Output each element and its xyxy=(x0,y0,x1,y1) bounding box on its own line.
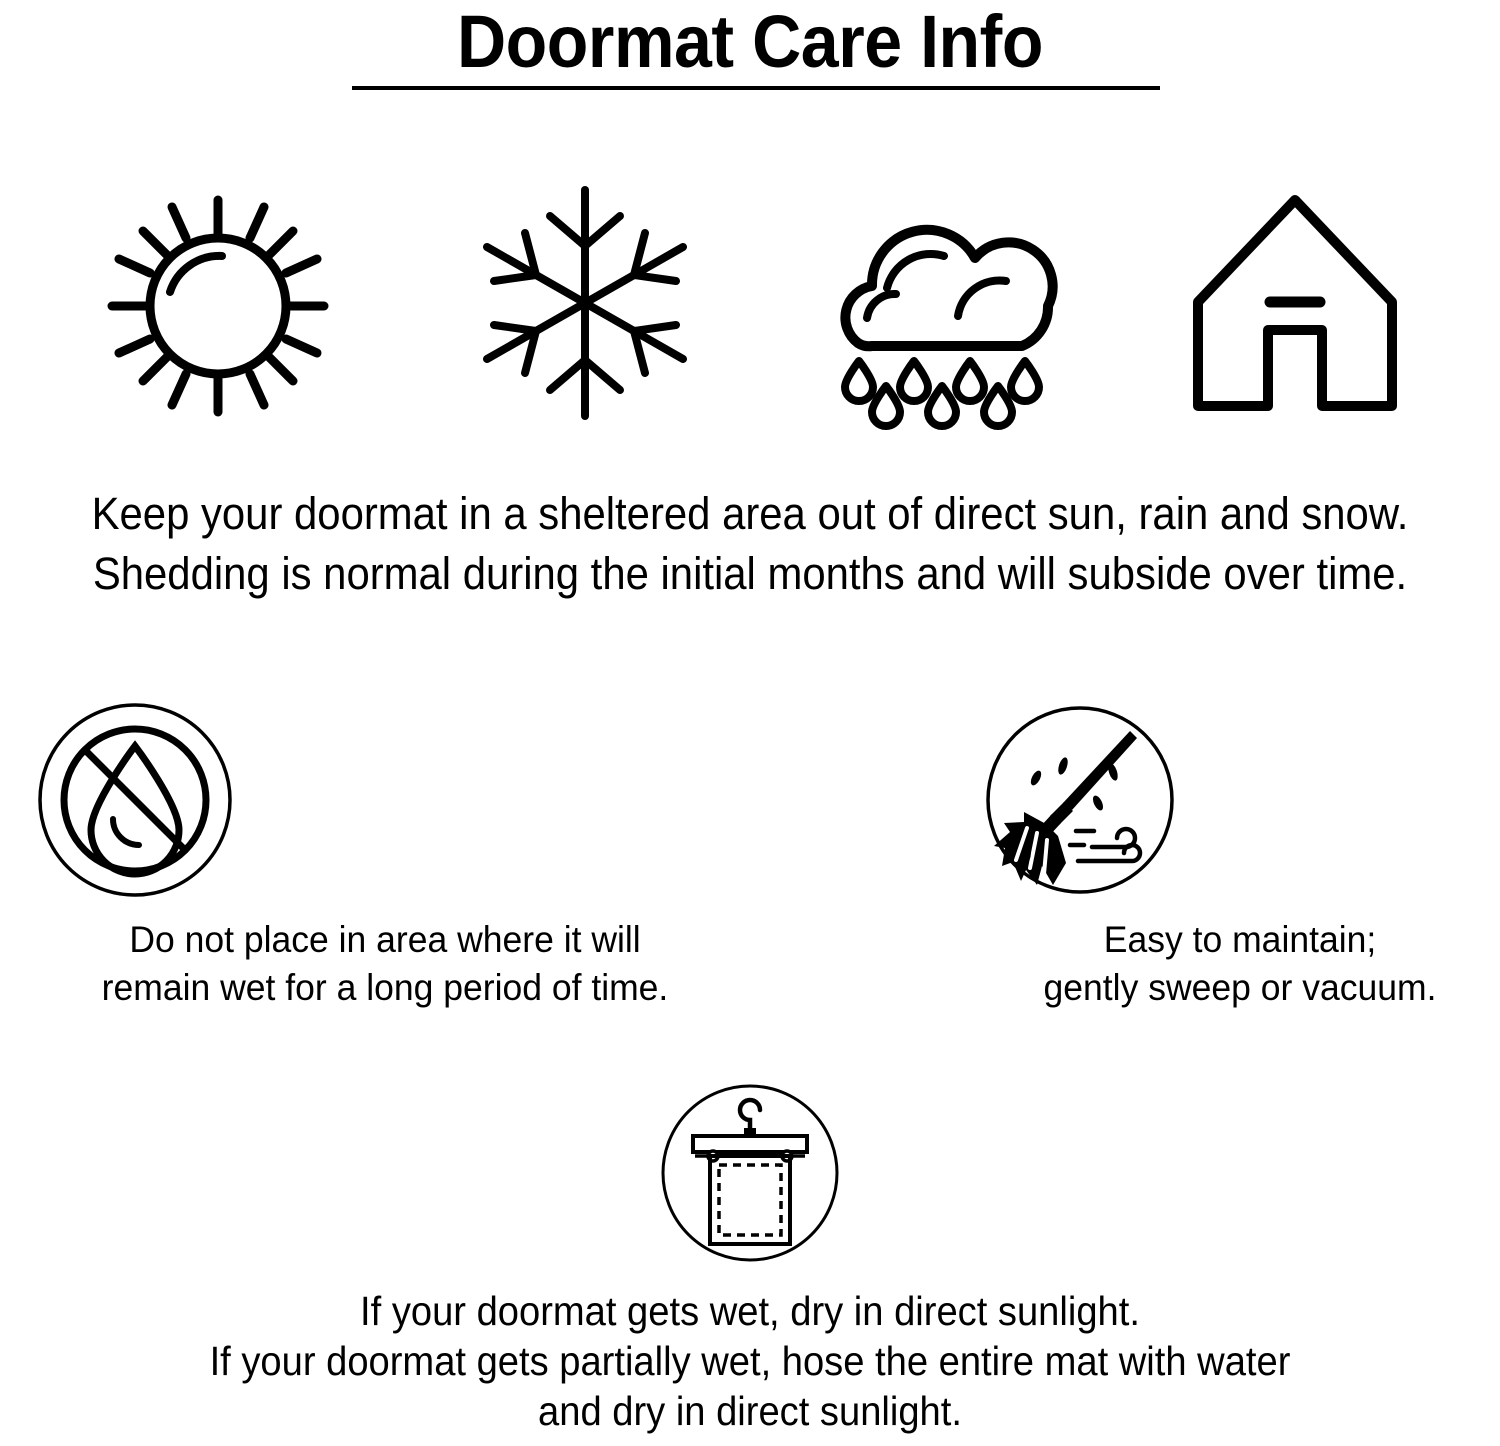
care-caption-line-3: and dry in direct sunlight. xyxy=(53,1386,1448,1436)
sun-icon xyxy=(100,178,340,428)
care-caption-dry-in-sunlight: If your doormat gets wet, dry in direct … xyxy=(53,1286,1448,1436)
care-item-dry-section: If your doormat gets wet, dry in direct … xyxy=(0,1078,1500,1436)
care-items-row: Do not place in area where it will remai… xyxy=(0,700,1500,1020)
title-underline-rule xyxy=(352,86,1160,90)
hanging-mat-dry-icon xyxy=(0,1078,1500,1268)
no-water-icon xyxy=(35,700,735,900)
weather-icon-row xyxy=(0,178,1500,428)
care-caption-easy-maintain: Easy to maintain; gently sweep or vacuum… xyxy=(990,916,1489,1012)
intro-paragraph: Keep your doormat in a sheltered area ou… xyxy=(53,484,1448,604)
care-item-no-standing-water: Do not place in area where it will remai… xyxy=(35,700,735,1012)
title-block: Doormat Care Info xyxy=(0,0,1500,82)
care-caption-line-1: Easy to maintain; xyxy=(990,916,1489,964)
care-caption-line-1: Do not place in area where it will xyxy=(49,916,721,964)
care-caption-line-1: If your doormat gets wet, dry in direct … xyxy=(53,1286,1448,1336)
care-item-easy-maintain: Easy to maintain; gently sweep or vacuum… xyxy=(980,700,1500,1012)
house-icon xyxy=(1180,178,1410,428)
care-item-dry-in-sunlight: If your doormat gets wet, dry in direct … xyxy=(0,1078,1500,1436)
page-title: Doormat Care Info xyxy=(60,0,1440,82)
intro-line-2: Shedding is normal during the initial mo… xyxy=(53,544,1448,604)
rain-cloud-icon xyxy=(810,178,1065,428)
care-caption-line-2: If your doormat gets partially wet, hose… xyxy=(53,1336,1448,1386)
intro-line-1: Keep your doormat in a sheltered area ou… xyxy=(53,484,1448,544)
snowflake-icon xyxy=(470,178,700,428)
care-caption-line-2: gently sweep or vacuum. xyxy=(990,964,1489,1012)
broom-sweep-icon xyxy=(980,700,1500,900)
care-caption-line-2: remain wet for a long period of time. xyxy=(49,964,721,1012)
care-caption-no-standing-water: Do not place in area where it will remai… xyxy=(49,916,721,1012)
